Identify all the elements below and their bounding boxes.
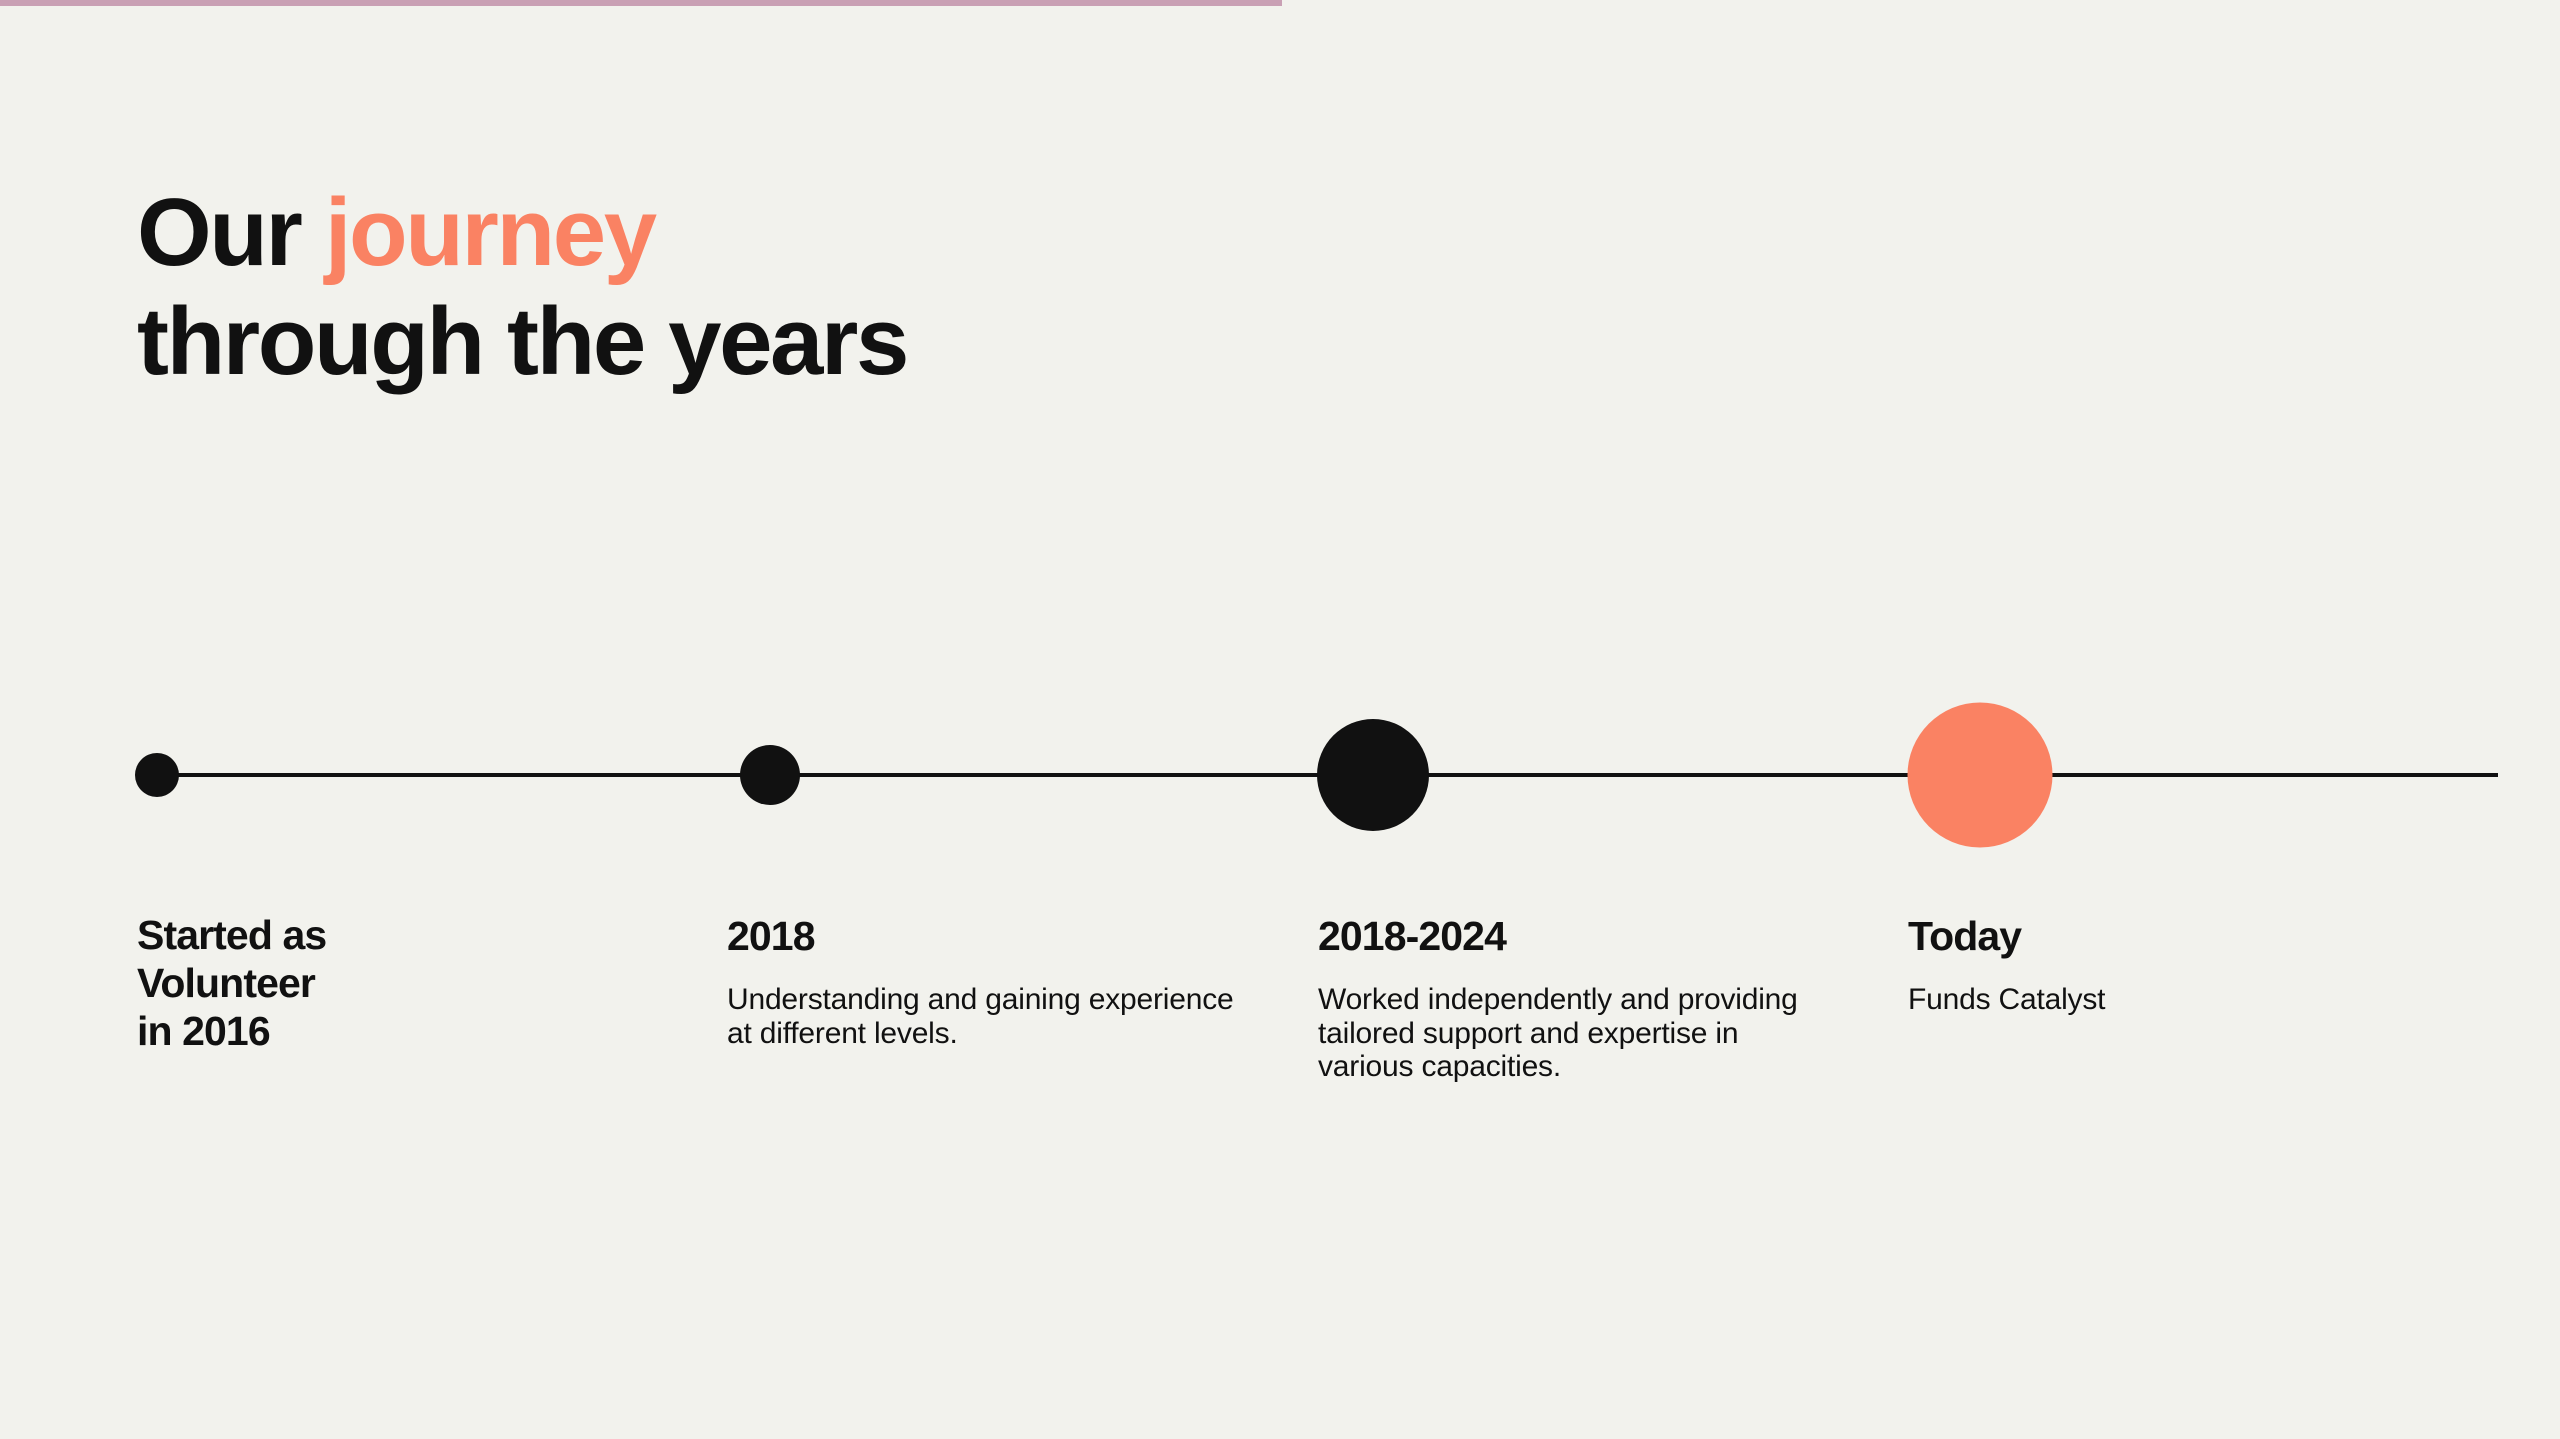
timeline-item-today: Today Funds Catalyst: [1908, 912, 2428, 1017]
timeline-marker-started-2016[interactable]: [135, 753, 179, 797]
timeline: Started as Volunteer in 2016 2018 Unders…: [0, 0, 2560, 1439]
timeline-item-started-2016: Started as Volunteer in 2016: [137, 912, 467, 1078]
timeline-marker-today[interactable]: [1908, 703, 2053, 848]
timeline-item-title: 2018: [727, 912, 1247, 961]
timeline-marker-2018[interactable]: [740, 745, 800, 805]
timeline-item-description: Funds Catalyst: [1908, 983, 2428, 1017]
timeline-item-description: Understanding and gaining experience at …: [727, 983, 1247, 1050]
timeline-item-title: Started as Volunteer in 2016: [137, 912, 467, 1056]
timeline-item-2018: 2018 Understanding and gaining experienc…: [727, 912, 1247, 1050]
timeline-item-description: Worked independently and providing tailo…: [1318, 983, 1828, 1084]
timeline-item-2018-2024: 2018-2024 Worked independently and provi…: [1318, 912, 1828, 1084]
timeline-marker-2018-2024[interactable]: [1317, 719, 1429, 831]
timeline-item-title: Today: [1908, 912, 2428, 961]
timeline-item-title: 2018-2024: [1318, 912, 1828, 961]
